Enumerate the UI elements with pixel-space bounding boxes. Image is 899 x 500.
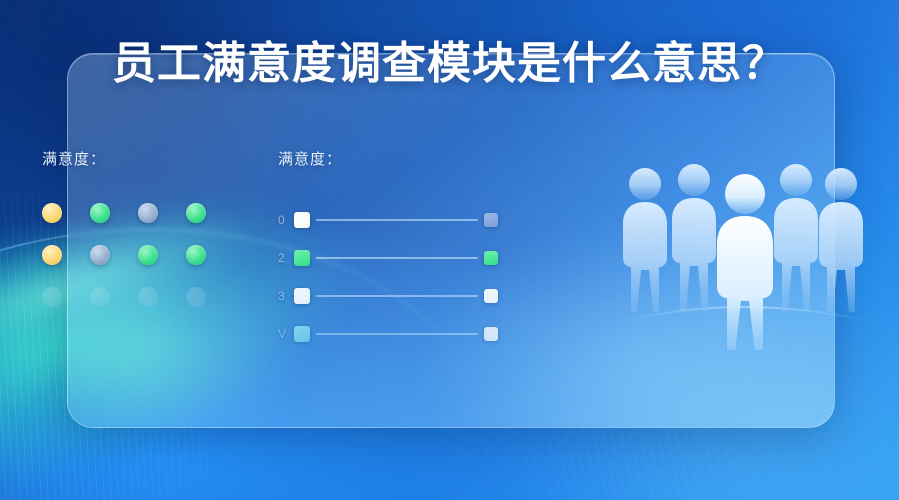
- slider-row[interactable]: 2: [278, 239, 498, 277]
- satisfaction-dot-amber[interactable]: [42, 245, 62, 265]
- satisfaction-dot-faded[interactable]: [186, 287, 206, 307]
- group-of-people-illustration: [609, 150, 881, 350]
- slider-handle-left[interactable]: [294, 250, 310, 266]
- satisfaction-dot-faded[interactable]: [90, 287, 110, 307]
- slider-track[interactable]: [316, 333, 478, 335]
- slider-handle-left[interactable]: [294, 326, 310, 342]
- satisfaction-dot-green[interactable]: [138, 245, 158, 265]
- slider-row[interactable]: 3: [278, 277, 498, 315]
- satisfaction-dot-green[interactable]: [90, 203, 110, 223]
- slider-track[interactable]: [316, 219, 478, 221]
- poster-canvas: 员工满意度调查模块是什么意思？ 满意度： 满意度： 023V: [0, 0, 899, 500]
- satisfaction-dot-grey[interactable]: [138, 203, 158, 223]
- page-title: 员工满意度调查模块是什么意思？: [0, 42, 899, 86]
- dots-grid: [42, 203, 232, 307]
- slider-handle-left[interactable]: [294, 212, 310, 228]
- satisfaction-dot-faded[interactable]: [138, 287, 158, 307]
- slider-track[interactable]: [316, 295, 478, 297]
- slider-row-label: 2: [278, 251, 294, 265]
- satisfaction-slider-panel: 满意度： 023V: [278, 148, 498, 353]
- satisfaction-dot-faded[interactable]: [42, 287, 62, 307]
- slider-track[interactable]: [316, 257, 478, 259]
- slider-row-label: 3: [278, 289, 294, 303]
- person-silhouette-5: [819, 168, 863, 312]
- slider-list: 023V: [278, 201, 498, 353]
- person-silhouette-2: [672, 164, 716, 311]
- slider-row[interactable]: V: [278, 315, 498, 353]
- person-silhouette-3-center: [717, 174, 773, 350]
- slider-handle-right[interactable]: [484, 289, 498, 303]
- satisfaction-dot-green[interactable]: [186, 203, 206, 223]
- person-silhouette-1: [623, 168, 667, 312]
- slider-handle-right[interactable]: [484, 251, 498, 265]
- dot-row: [42, 245, 232, 265]
- dots-panel-label: 满意度：: [42, 148, 232, 169]
- slider-handle-right[interactable]: [484, 213, 498, 227]
- slider-row-label: V: [278, 327, 294, 341]
- satisfaction-dot-green[interactable]: [186, 245, 206, 265]
- satisfaction-dot-grey[interactable]: [90, 245, 110, 265]
- slider-row-label: 0: [278, 213, 294, 227]
- slider-panel-label: 满意度：: [278, 148, 498, 169]
- slider-handle-left[interactable]: [294, 288, 310, 304]
- slider-row[interactable]: 0: [278, 201, 498, 239]
- slider-handle-right[interactable]: [484, 327, 498, 341]
- satisfaction-dots-panel: 满意度：: [42, 148, 232, 307]
- person-silhouette-4: [774, 164, 818, 311]
- dot-row: [42, 287, 232, 307]
- dot-row: [42, 203, 232, 223]
- satisfaction-dot-amber[interactable]: [42, 203, 62, 223]
